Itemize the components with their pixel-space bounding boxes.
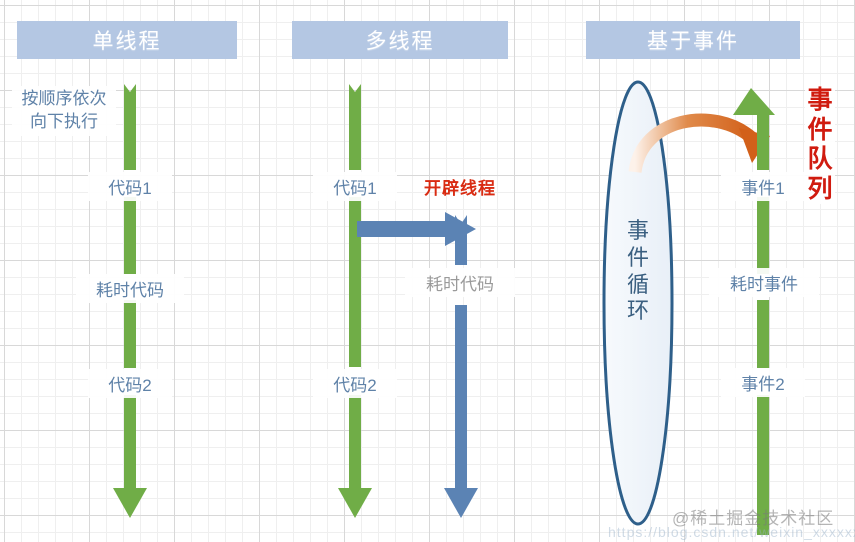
multi-thread-segment-code1: 代码1: [313, 172, 397, 201]
column-header-event-based: 基于事件: [586, 21, 800, 59]
column-header-single-thread: 单线程: [17, 21, 237, 59]
multi-thread-segment-code2: 代码2: [313, 369, 397, 398]
column-header-multi-thread: 多线程: [292, 21, 508, 59]
event-queue-label: 事件队列: [805, 86, 835, 204]
event-segment-blocking: 耗时事件: [709, 268, 819, 297]
worker-thread-label: 耗时代码: [405, 268, 515, 297]
event-loop-label: 事件循环: [624, 218, 652, 325]
multi-thread-main-arrow: [338, 84, 372, 518]
event-segment-event1: 事件1: [721, 172, 805, 201]
single-thread-note: 按顺序依次向下执行: [12, 86, 116, 136]
single-thread-segment-blocking: 耗时代码: [76, 274, 184, 303]
single-thread-segment-code1: 代码1: [88, 172, 172, 201]
diagram-canvas: 单线程 多线程 基于事件 按顺序依次向下执行 代码1 耗时代码 代码2 代码1 …: [0, 0, 855, 542]
worker-thread-arrow: [444, 215, 478, 518]
spawn-thread-label: 开辟线程: [411, 172, 509, 201]
event-segment-event2: 事件2: [721, 368, 805, 397]
single-thread-segment-code2: 代码2: [88, 369, 172, 398]
url-watermark: https://blog.csdn.net/weixin_xxxxxxx: [608, 524, 855, 540]
